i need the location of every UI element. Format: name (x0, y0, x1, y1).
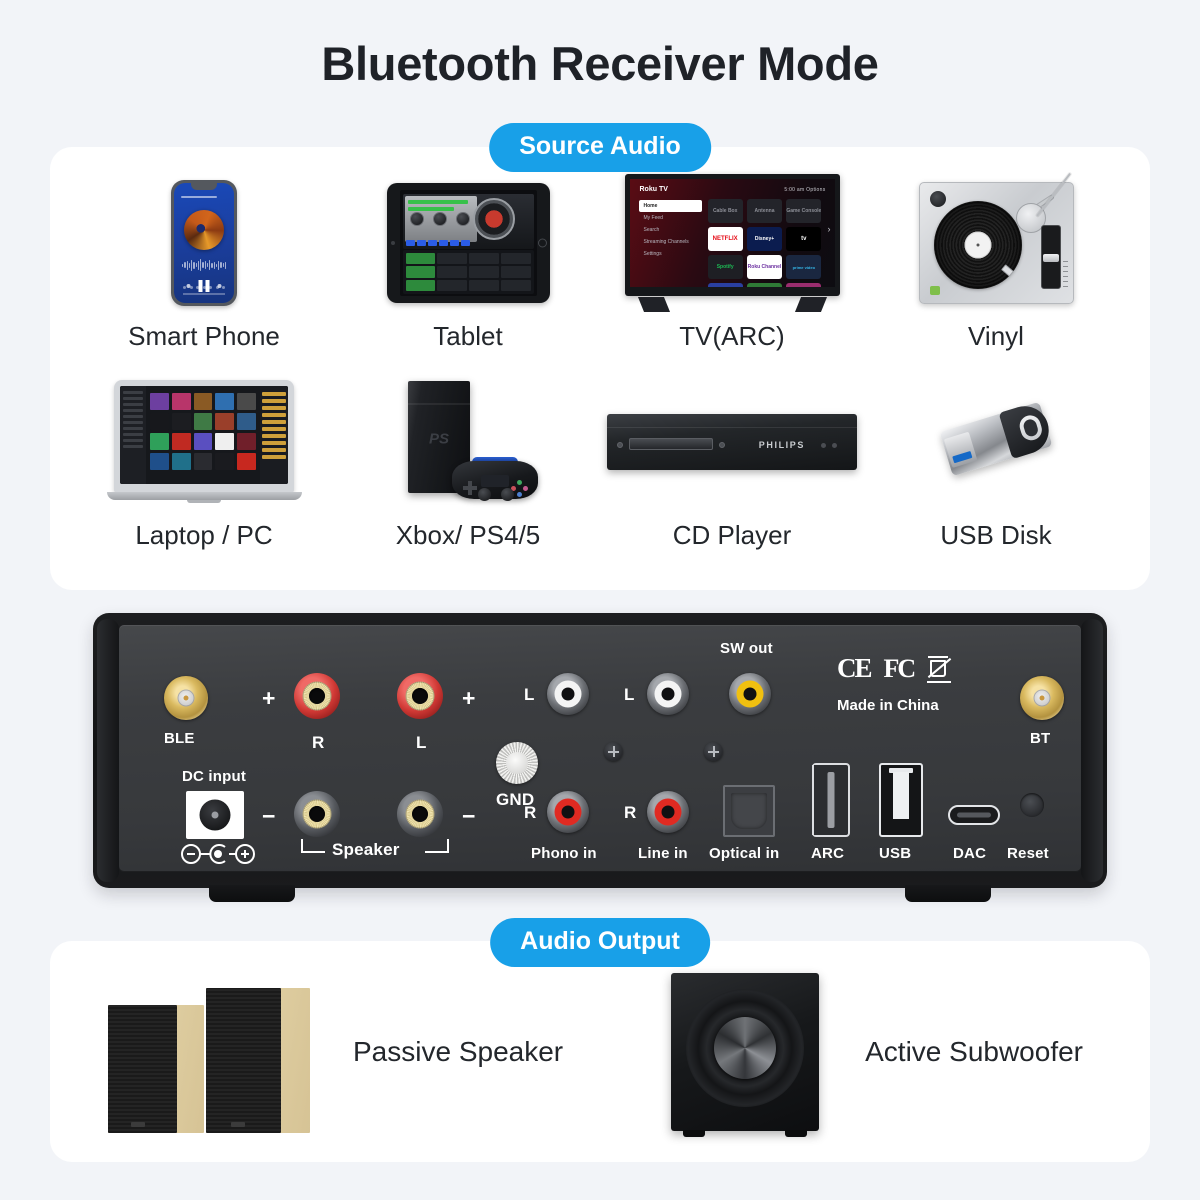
source-device-label: Vinyl (968, 321, 1024, 352)
source-device-tablet: 123 Tablet (336, 177, 600, 376)
output-device-label: Passive Speaker (353, 1036, 563, 1068)
usb-label: USB (879, 845, 911, 862)
line-in-right-jack[interactable] (647, 791, 689, 833)
amplifier-faceplate: BLE DC input + R + L − − (119, 625, 1081, 872)
source-device-usb-disk: USB Disk (864, 376, 1128, 575)
source-device-tv: Roku TV 5:00 am Options Home My Feed Sea… (600, 177, 864, 376)
usb-flash-drive-icon (940, 376, 1052, 508)
dc-input-jack[interactable] (186, 791, 244, 839)
television-icon: Roku TV 5:00 am Options Home My Feed Sea… (625, 177, 840, 309)
speaker-r-plus-symbol: + (262, 685, 275, 712)
output-device-row: Passive Speaker Active Subwoofer (50, 941, 1150, 1162)
tv-tile (747, 283, 782, 287)
source-audio-badge: Source Audio (489, 123, 711, 172)
source-device-label: USB Disk (940, 520, 1051, 551)
cd-player-brand-label: PHILIPS (759, 440, 805, 450)
page-title: Bluetooth Receiver Mode (0, 0, 1200, 91)
amplifier-rear-panel: BLE DC input + R + L − − (93, 613, 1107, 888)
source-device-grid: Smart Phone 123 (72, 177, 1128, 574)
chevron-right-icon: › (828, 224, 831, 234)
dac-usb-c-port[interactable] (948, 805, 1000, 825)
line-left-channel-label: L (624, 685, 635, 705)
amplifier-left-heatsink (97, 619, 119, 882)
subwoofer-out-jack[interactable] (729, 673, 771, 715)
tv-menu-item: Settings (639, 248, 702, 260)
ble-antenna-label: BLE (164, 730, 195, 747)
phono-in-label: Phono in (531, 845, 597, 862)
tv-menu: Home My Feed Search Streaming Channels S… (639, 200, 702, 260)
source-device-vinyl: Vinyl (864, 177, 1128, 376)
source-device-label: Laptop / PC (135, 520, 272, 551)
tv-tile: NETFLIX (708, 227, 743, 251)
certification-marks: CE FC (837, 653, 951, 684)
panel-screw (704, 742, 723, 761)
tv-status-label: 5:00 am Options (784, 187, 825, 193)
speaker-l-label: L (416, 733, 427, 753)
laptop-icon (107, 376, 302, 508)
source-device-cd-player: PHILIPS CD Player (600, 376, 864, 575)
speaker-l-negative-post[interactable] (397, 791, 443, 837)
dc-polarity-icon (181, 843, 255, 865)
amplifier-right-heatsink (1081, 619, 1103, 882)
tv-menu-item: My Feed (639, 212, 702, 224)
tv-tile (786, 283, 821, 287)
optical-in-label: Optical in (709, 845, 779, 862)
tv-menu-item: Search (639, 224, 702, 236)
usb-a-port[interactable] (879, 763, 923, 837)
tv-tile: tv (786, 227, 821, 251)
tv-tile: Game Console (786, 199, 821, 223)
dc-input-label: DC input (182, 768, 246, 785)
speaker-l-minus-symbol: − (462, 803, 475, 830)
tv-tile: Cable Box (708, 199, 743, 223)
phono-right-channel-label: R (524, 803, 536, 823)
speaker-l-plus-symbol: + (462, 685, 475, 712)
speaker-l-positive-post[interactable] (397, 673, 443, 719)
source-device-console: PS Xbox/ PS4/5 (336, 376, 600, 575)
reset-label: Reset (1007, 845, 1049, 862)
speaker-r-label: R (312, 733, 324, 753)
tv-menu-item: Streaming Channels (639, 236, 702, 248)
arc-label: ARC (811, 845, 844, 862)
fcc-mark-icon: FC (884, 654, 915, 684)
roku-brand-label: Roku TV (640, 186, 668, 193)
subwoofer-icon (671, 973, 819, 1131)
smartphone-icon (171, 177, 237, 309)
tv-tile: prime video (786, 255, 821, 279)
source-device-label: CD Player (673, 520, 791, 551)
tablet-icon: 123 (387, 177, 550, 309)
tv-tile (708, 283, 743, 287)
tv-stand (625, 296, 840, 312)
tv-tile: Disney+ (747, 227, 782, 251)
source-device-label: Smart Phone (128, 321, 280, 352)
source-device-smart-phone: Smart Phone (72, 177, 336, 376)
audio-output-badge: Audio Output (490, 918, 710, 967)
phono-left-channel-label: L (524, 685, 535, 705)
bookshelf-speakers-icon (98, 971, 313, 1133)
speaker-r-negative-post[interactable] (294, 791, 340, 837)
tv-app-tiles: Cable Box Antenna Game Console NETFLIX D… (708, 199, 822, 287)
output-device-passive-speaker: Passive Speaker (98, 971, 563, 1133)
dac-label: DAC (953, 845, 986, 862)
ble-antenna-connector[interactable] (164, 676, 208, 720)
amplifier-foot (209, 885, 295, 902)
ce-mark-icon: CE (837, 653, 871, 684)
source-device-label: Tablet (433, 321, 502, 352)
weee-bin-icon (927, 655, 951, 683)
reset-button[interactable] (1020, 793, 1044, 817)
source-device-label: Xbox/ PS4/5 (396, 520, 541, 551)
speaker-r-positive-post[interactable] (294, 673, 340, 719)
speaker-r-minus-symbol: − (262, 803, 275, 830)
speaker-group-label: Speaker (332, 840, 400, 860)
sw-out-label: SW out (720, 640, 773, 657)
cd-player-icon: PHILIPS (607, 376, 857, 508)
bt-antenna-label: BT (1030, 730, 1050, 747)
arc-hdmi-port[interactable] (812, 763, 850, 837)
source-device-label: TV(ARC) (679, 321, 784, 352)
audio-output-card: Passive Speaker Active Subwoofer (50, 941, 1150, 1162)
output-device-label: Active Subwoofer (865, 1036, 1083, 1068)
line-in-label: Line in (638, 845, 688, 862)
line-in-left-jack[interactable] (647, 673, 689, 715)
tv-menu-item: Home (639, 200, 702, 212)
tv-tile: Spotify (708, 255, 743, 279)
turntable-icon (919, 177, 1074, 309)
source-device-laptop: Laptop / PC (72, 376, 336, 575)
optical-in-port[interactable] (723, 785, 775, 837)
ground-terminal[interactable] (496, 742, 538, 784)
phono-in-right-jack[interactable] (547, 791, 589, 833)
game-console-icon: PS (398, 376, 538, 508)
line-right-channel-label: R (624, 803, 636, 823)
tv-tile: Roku Channel (747, 255, 782, 279)
tv-tile: Antenna (747, 199, 782, 223)
output-device-active-subwoofer: Active Subwoofer (671, 973, 1083, 1131)
amplifier-foot (905, 885, 991, 902)
source-audio-card: Smart Phone 123 (50, 147, 1150, 590)
bt-antenna-connector[interactable] (1020, 676, 1064, 720)
panel-screw (604, 742, 623, 761)
made-in-label: Made in China (837, 697, 939, 714)
phono-in-left-jack[interactable] (547, 673, 589, 715)
